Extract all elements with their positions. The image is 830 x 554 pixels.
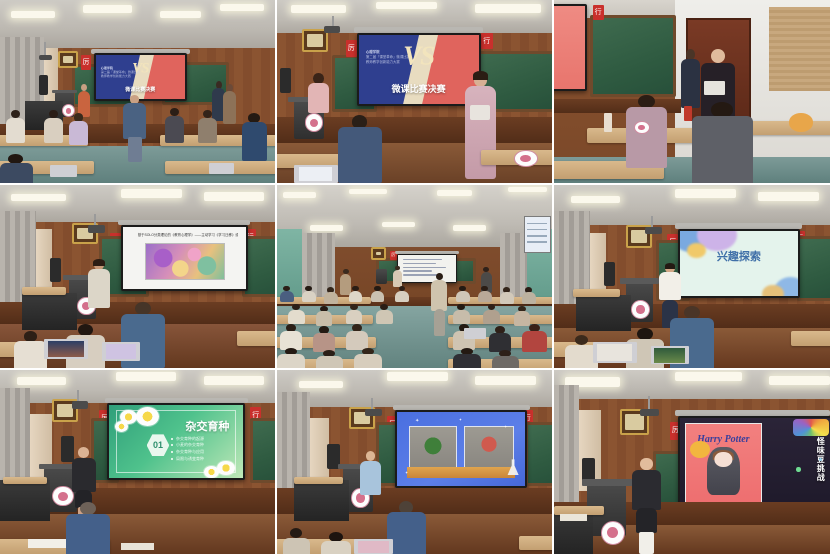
seated-attendee bbox=[66, 502, 110, 554]
wall-clock bbox=[371, 247, 386, 260]
ceiling-light bbox=[675, 189, 736, 198]
seated-attendee bbox=[395, 286, 409, 302]
torso bbox=[338, 127, 382, 183]
chalkboard bbox=[797, 236, 830, 301]
torso bbox=[198, 118, 217, 143]
held-paper bbox=[704, 81, 725, 95]
seated-attendee bbox=[0, 154, 33, 185]
side-table bbox=[573, 289, 620, 296]
photo-cell-8[interactable]: 厉 行 ✦ ✦ ✦ ✦ bbox=[277, 370, 554, 554]
torso bbox=[14, 341, 47, 370]
projection-screen-frame: 兴趣探索 bbox=[678, 229, 799, 299]
photo-cell-5[interactable]: 厉 行 bbox=[277, 185, 554, 370]
projection-screen-frame: Harry Potter 怪味豆挑战 bbox=[678, 416, 830, 508]
podium-emblem bbox=[305, 113, 324, 131]
slide-harry-potter: Harry Potter 怪味豆挑战 bbox=[680, 418, 830, 506]
projector bbox=[39, 55, 53, 60]
side-table bbox=[294, 477, 344, 484]
slide-green: 杂交育种 01 杂交育种的起源 小麦的杂交育种 杂交育种与应用 局限与诱变育种 bbox=[109, 405, 243, 478]
sparkle-icon: ✦ bbox=[415, 418, 419, 424]
laptop bbox=[593, 342, 637, 362]
photo-cell-1[interactable]: 厉 行 心理学院 第二届「课堂革命」微课比赛 教师教学创新能力大赛 VS bbox=[0, 0, 277, 185]
standing-attendee bbox=[223, 84, 237, 124]
torso bbox=[88, 269, 109, 308]
head bbox=[366, 451, 376, 461]
slide-white: 基于SOLO分类理论的《教育心理学》——主动学习《学习迁移》设计 bbox=[123, 227, 246, 289]
ceiling-light bbox=[204, 192, 265, 201]
seated-attendee bbox=[44, 110, 63, 143]
laptop-screen bbox=[597, 344, 632, 360]
blazer bbox=[72, 458, 96, 492]
ceiling-light bbox=[11, 194, 66, 201]
lectern-top bbox=[52, 90, 77, 94]
sparkle-icon: ✦ bbox=[459, 417, 462, 422]
equipment-cabinet bbox=[576, 295, 631, 332]
seated-attendee bbox=[198, 110, 217, 143]
laptop bbox=[354, 539, 393, 554]
torso bbox=[626, 107, 667, 168]
hair bbox=[473, 71, 488, 79]
front-presenter bbox=[393, 266, 403, 288]
laptop bbox=[651, 346, 690, 364]
seated-attendee bbox=[6, 110, 25, 143]
side-table bbox=[3, 477, 47, 484]
held-paper bbox=[470, 105, 490, 120]
character-illustration bbox=[707, 447, 740, 495]
daisy-icon bbox=[115, 421, 128, 432]
laptop-screen bbox=[106, 344, 137, 359]
projection-screen: 基于SOLO分类理论的《教育心理学》——主动学习《学习迁移》设计 bbox=[123, 227, 246, 289]
thermos bbox=[684, 106, 692, 121]
seated-attendee bbox=[692, 102, 753, 185]
slide-vs: 心理学院 第二届「课堂革命」微课比赛 教师教学创新能力大赛 VS 微课比赛决赛 bbox=[96, 55, 186, 99]
ceiling-light bbox=[376, 2, 437, 9]
seated-attendee bbox=[313, 326, 335, 352]
slide-title: 基于SOLO分类理论的《教育心理学》——主动学习《学习迁移》设计 bbox=[138, 232, 238, 237]
torso bbox=[387, 512, 426, 554]
lectern-top bbox=[582, 479, 634, 486]
suit bbox=[681, 59, 700, 108]
seated-attendee bbox=[500, 287, 514, 303]
seated-attendee bbox=[283, 528, 311, 554]
legs bbox=[434, 309, 445, 336]
head bbox=[684, 306, 700, 319]
lecture-hall-scene-7: 厉 行 杂交育种 01 bbox=[0, 370, 275, 554]
seated-attendee bbox=[453, 348, 481, 370]
torso bbox=[66, 514, 110, 554]
seated-attendee bbox=[242, 113, 267, 161]
seated-attendee bbox=[316, 306, 333, 326]
seated-attendee bbox=[478, 286, 492, 302]
seated-attendee bbox=[346, 324, 368, 350]
head bbox=[711, 49, 725, 63]
daisy-icon bbox=[204, 466, 219, 478]
lecture-hall-scene-5: 厉 行 bbox=[277, 185, 552, 368]
seated-attendee bbox=[354, 348, 382, 370]
torso bbox=[0, 163, 33, 185]
ceiling-light bbox=[299, 381, 343, 388]
chalkboard bbox=[525, 422, 555, 487]
aisle-standing-person bbox=[431, 273, 448, 335]
laptop-screen bbox=[654, 348, 685, 363]
ceiling-light bbox=[11, 11, 55, 18]
ceiling-light bbox=[382, 222, 415, 227]
seated-attendee bbox=[492, 350, 520, 370]
ceiling-light bbox=[675, 372, 741, 381]
podium-emblem bbox=[631, 300, 650, 318]
ceiling-light bbox=[160, 11, 201, 18]
balloon-shape bbox=[690, 441, 710, 458]
torso bbox=[6, 118, 25, 143]
laptop-screen bbox=[358, 541, 389, 553]
ceiling-light bbox=[283, 192, 316, 197]
vs-label: VS bbox=[403, 40, 434, 71]
standing-speaker bbox=[121, 95, 149, 165]
seated-attendee bbox=[522, 324, 547, 351]
student-presenter bbox=[631, 458, 661, 554]
desk-emblem bbox=[514, 150, 538, 167]
seated-attendee bbox=[371, 286, 385, 302]
seated-attendee bbox=[324, 287, 338, 303]
ceiling-light bbox=[437, 190, 473, 195]
wall-speaker bbox=[50, 258, 61, 282]
torso bbox=[308, 83, 329, 114]
seated-attendee bbox=[514, 306, 531, 326]
poster-image: Harry Potter bbox=[685, 423, 762, 502]
decor-dot bbox=[819, 458, 822, 461]
photo-cell-6[interactable]: 厉 行 兴趣探索 bbox=[554, 185, 830, 370]
presenter bbox=[88, 260, 110, 308]
lecture-hall-scene-8: 厉 行 ✦ ✦ ✦ ✦ bbox=[277, 370, 552, 554]
seated-attendee bbox=[453, 304, 470, 324]
projector bbox=[365, 409, 382, 416]
equipment-cabinet bbox=[0, 480, 50, 520]
seated-attendee bbox=[456, 286, 470, 302]
projection-screen-frame: 杂交育种 01 杂交育种的起源 小麦的杂交育种 杂交育种与应用 局限与诱变育种 bbox=[107, 403, 245, 480]
seated-attendee bbox=[14, 331, 47, 370]
seated-attendee bbox=[321, 532, 351, 554]
desk-row bbox=[237, 331, 278, 346]
lecture-hall-scene-3: 行 bbox=[554, 0, 830, 183]
projection-screen: 兴趣探索 bbox=[680, 231, 797, 297]
photo-collage: 厉 行 心理学院 第二届「课堂革命」微课比赛 教师教学创新能力大赛 VS bbox=[0, 0, 830, 554]
standing-man bbox=[681, 49, 700, 108]
lecture-hall-scene-6: 厉 行 兴趣探索 bbox=[554, 185, 830, 368]
seated-attendee bbox=[483, 304, 500, 324]
character-face bbox=[715, 452, 732, 466]
torso bbox=[692, 116, 753, 185]
seated-attendee bbox=[387, 501, 426, 554]
slide-blue: ✦ ✦ ✦ ✦ bbox=[397, 412, 525, 485]
head bbox=[290, 528, 302, 538]
wall-speaker bbox=[39, 75, 49, 95]
slide-bullet: 杂交育种的起源 bbox=[176, 436, 204, 442]
lecture-hall-scene-9: 厉 Harry Potter bbox=[554, 370, 830, 554]
red-banner-sign: 厉 bbox=[81, 55, 91, 70]
seated-attendee bbox=[376, 304, 393, 324]
photo-cell-9[interactable]: 厉 Harry Potter bbox=[554, 370, 830, 554]
legs bbox=[128, 137, 142, 162]
slide-title: 兴趣探索 bbox=[717, 248, 761, 264]
projector bbox=[324, 26, 341, 33]
ceiling-light bbox=[475, 376, 536, 385]
projection-screen: Harry Potter 怪味豆挑战 bbox=[680, 418, 830, 506]
wall-speaker bbox=[604, 262, 615, 286]
projection-screen-frame: ✦ ✦ ✦ ✦ bbox=[395, 410, 527, 487]
seated-attendee bbox=[346, 304, 363, 324]
slide-photo-right bbox=[464, 426, 515, 469]
torso bbox=[123, 103, 146, 139]
slide-bullet: 杂交育种与应用 bbox=[176, 449, 204, 455]
daisy-icon bbox=[136, 407, 159, 426]
wall-clock bbox=[58, 51, 79, 68]
slide-image bbox=[145, 243, 225, 280]
laptop bbox=[102, 342, 141, 360]
plush-toy bbox=[789, 113, 814, 131]
seated-attendee bbox=[69, 113, 88, 144]
torso bbox=[431, 280, 447, 311]
paper-sheet bbox=[121, 543, 154, 550]
podium-emblem bbox=[601, 521, 625, 545]
dress bbox=[360, 461, 381, 495]
ceiling-light bbox=[17, 377, 67, 384]
decor-dot bbox=[796, 467, 801, 471]
projection-screen-frame bbox=[554, 4, 587, 92]
red-wall-sign: 行 bbox=[593, 5, 604, 20]
desk-row bbox=[519, 536, 554, 551]
slide-base-bar bbox=[407, 467, 515, 479]
ceiling-light bbox=[571, 196, 621, 203]
seated-attendee bbox=[349, 286, 363, 302]
seated-attendee bbox=[288, 304, 305, 324]
ceiling-light bbox=[769, 376, 830, 385]
colour-wheel-graphic bbox=[793, 419, 829, 437]
wood-acoustic-panel bbox=[769, 7, 830, 91]
ceiling-light bbox=[83, 5, 133, 12]
lecture-hall-scene-1: 厉 行 心理学院 第二届「课堂革命」微课比赛 教师教学创新能力大赛 VS bbox=[0, 0, 275, 183]
host-at-lectern bbox=[307, 73, 329, 113]
projection-screen: 心理学院 第二届「课堂革命」微课比赛 教师教学创新能力大赛 VS 微课比赛决赛 bbox=[96, 55, 186, 99]
photo-cell-3[interactable]: 行 bbox=[554, 0, 830, 185]
ceiling-light bbox=[508, 187, 547, 192]
hair bbox=[93, 259, 104, 266]
student-presenter bbox=[360, 451, 382, 495]
torso bbox=[321, 541, 351, 554]
ceiling-light bbox=[220, 4, 264, 11]
projector bbox=[72, 401, 89, 408]
projector bbox=[645, 227, 662, 234]
torso bbox=[223, 91, 236, 124]
hair bbox=[665, 263, 676, 269]
coat bbox=[465, 86, 497, 179]
head bbox=[575, 335, 588, 345]
torso bbox=[283, 538, 311, 554]
ceiling-light bbox=[453, 225, 486, 230]
slide-bullet: 局限与诱变育种 bbox=[176, 456, 204, 462]
lectern-presenter bbox=[77, 84, 91, 117]
chalkboard bbox=[590, 15, 676, 98]
laptop-screen bbox=[48, 341, 83, 357]
torso bbox=[44, 118, 63, 143]
slide-title: 杂交育种 bbox=[185, 418, 229, 434]
ceiling-light bbox=[310, 225, 343, 230]
photo-cell-7[interactable]: 厉 行 杂交育种 01 bbox=[0, 370, 277, 554]
legs bbox=[639, 532, 654, 554]
daisy-icon bbox=[217, 461, 234, 476]
sparkle-icon: ✦ bbox=[405, 470, 408, 475]
projection-screen-frame: 心理学院 第二届「课堂革命」微课比赛 教师教学创新能力大赛 VS 微课比赛决赛 bbox=[357, 33, 481, 106]
ceiling-light bbox=[121, 189, 182, 198]
projection-screen bbox=[554, 6, 585, 90]
laptop bbox=[209, 163, 234, 174]
slide-subtitle: 微课比赛决赛 bbox=[125, 86, 155, 93]
laptop bbox=[50, 165, 78, 178]
equipment-cabinet bbox=[294, 480, 349, 520]
ceiling-light bbox=[116, 372, 177, 381]
seated-attendee bbox=[280, 324, 302, 350]
photo-cell-2[interactable]: 厉 行 心理学院 第二届「课堂革命」微课比赛 教师教学创新能力大赛 VS bbox=[277, 0, 554, 185]
cup bbox=[604, 113, 612, 131]
seated-attendee bbox=[280, 286, 294, 302]
vs-label: VS bbox=[132, 61, 148, 78]
paper-sheet bbox=[28, 539, 67, 548]
desk-row bbox=[791, 331, 830, 346]
wall-speaker bbox=[280, 68, 291, 94]
seated-attendee bbox=[277, 348, 305, 370]
laptop bbox=[44, 339, 88, 359]
shirt bbox=[659, 272, 680, 300]
torso bbox=[165, 116, 184, 143]
red-wall-sign: 行 bbox=[481, 33, 493, 49]
lectern bbox=[376, 269, 387, 284]
photo-cell-4[interactable]: 厉 行 基于SOLO分类理论的《教育心理学》——主动学习《学习迁移》设计 bbox=[0, 185, 277, 370]
projection-screen: 杂交育种 01 杂交育种的起源 小麦的杂交育种 杂交育种与应用 局限与诱变育种 bbox=[109, 405, 243, 478]
seated-attendee bbox=[302, 286, 316, 302]
side-table bbox=[22, 287, 66, 294]
projector bbox=[640, 409, 659, 416]
decor-blob bbox=[762, 285, 783, 297]
torso bbox=[69, 121, 88, 145]
slide-teal: 兴趣探索 bbox=[680, 231, 797, 297]
projection-screen: 心理学院 第二届「课堂革命」微课比赛 教师教学创新能力大赛 VS 微课比赛决赛 bbox=[359, 35, 479, 104]
projector bbox=[88, 225, 105, 232]
ceiling-light bbox=[291, 5, 346, 12]
slide-vs: 心理学院 第二届「课堂革命」微课比赛 教师教学创新能力大赛 VS 微课比赛决赛 bbox=[359, 35, 479, 104]
ceiling-light bbox=[387, 372, 448, 381]
projection-screen-frame: 心理学院 第二届「课堂革命」微课比赛 教师教学创新能力大赛 VS 微课比赛决赛 bbox=[94, 53, 188, 101]
window-curtain bbox=[554, 385, 579, 510]
laptop-screen bbox=[299, 167, 332, 181]
red-banner-sign: 厉 bbox=[346, 40, 357, 56]
sparkle-icon: ✦ bbox=[504, 424, 507, 429]
head bbox=[640, 458, 652, 469]
lectern-top bbox=[620, 278, 659, 283]
laptop bbox=[294, 165, 338, 183]
desk-emblem bbox=[634, 121, 650, 134]
seated-attendee bbox=[522, 287, 536, 303]
chalkboard bbox=[250, 418, 277, 483]
ceiling-light bbox=[349, 189, 388, 194]
wall-monitor bbox=[524, 216, 551, 253]
head bbox=[78, 447, 89, 458]
ceiling-light bbox=[758, 192, 819, 201]
projection-screen: ✦ ✦ ✦ ✦ bbox=[397, 412, 525, 485]
projection-screen-frame: 基于SOLO分类理论的《教育心理学》——主动学习《学习迁移》设计 bbox=[121, 225, 248, 291]
paper-sheet bbox=[560, 514, 588, 521]
seated-attendee bbox=[489, 326, 511, 352]
seated-attendee bbox=[316, 350, 344, 370]
seated-attendee bbox=[165, 108, 184, 143]
projection-screen-frame bbox=[397, 254, 458, 283]
lecture-hall-scene-4: 厉 行 基于SOLO分类理论的《教育心理学》——主动学习《学习迁移》设计 bbox=[0, 185, 275, 368]
skirt bbox=[636, 508, 658, 533]
ceiling-light bbox=[204, 376, 265, 385]
decor-blob bbox=[687, 243, 706, 259]
slide-photo-left bbox=[409, 426, 457, 469]
torso bbox=[242, 122, 267, 161]
seated-attendee bbox=[338, 115, 382, 183]
slide-subtitle: 微课比赛决赛 bbox=[392, 82, 446, 95]
lecture-hall-scene-2: 厉 行 心理学院 第二届「课堂革命」微课比赛 教师教学创新能力大赛 VS bbox=[277, 0, 552, 183]
laptop bbox=[464, 328, 486, 339]
blazer bbox=[632, 470, 661, 510]
slide-bullet: 小麦的杂交育种 bbox=[176, 442, 204, 448]
ceiling-light bbox=[475, 4, 541, 13]
